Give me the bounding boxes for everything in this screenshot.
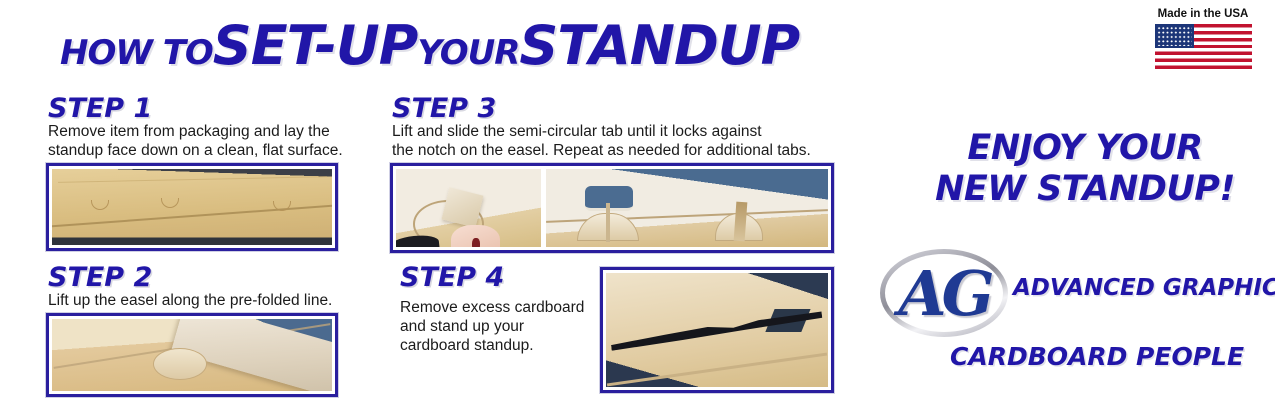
hand	[451, 225, 500, 247]
step-2-photo	[46, 313, 338, 397]
advanced-graphics-logo-icon: AG	[880, 249, 1008, 337]
instruction-sheet: HOW TOSET-UPYOURSTANDUP Made in the USA …	[0, 0, 1275, 417]
step-3-heading: STEP 3	[392, 93, 496, 124]
step-3-body: Lift and slide the semi-circular tab unt…	[392, 122, 832, 160]
step-1-body: Remove item from packaging and lay the s…	[48, 122, 358, 160]
cardboard-edge	[607, 353, 827, 387]
title-part-set-up: SET-UP	[213, 14, 418, 77]
usa-flag-icon	[1155, 24, 1252, 69]
made-in-usa-label: Made in the USA	[1147, 8, 1259, 20]
step-3-photo	[390, 163, 834, 253]
page-title: HOW TOSET-UPYOURSTANDUP	[60, 14, 799, 77]
photo-standup-face-down	[52, 169, 332, 245]
company-tagline: CARDBOARD PEOPLE	[950, 342, 1244, 371]
flag-canton	[1155, 24, 1194, 48]
logo-monogram: AG	[880, 249, 1008, 337]
step-2-heading: STEP 2	[48, 262, 152, 293]
step-4-body: Remove excess cardboard and stand up you…	[400, 298, 610, 355]
photo-tabs-locked	[546, 169, 828, 247]
made-in-usa-badge: Made in the USA	[1147, 8, 1259, 69]
step-4-photo	[600, 267, 834, 393]
photo-excess-cardboard	[606, 273, 828, 387]
closing-message: ENJOY YOUR NEW STANDUP!	[905, 128, 1265, 210]
title-part-your: YOUR	[417, 33, 519, 73]
tab-nub	[91, 200, 109, 210]
tab-nub	[161, 198, 179, 208]
photo-lifting-tab	[396, 169, 541, 247]
step-1-photo	[46, 163, 338, 251]
title-part-standup: STANDUP	[519, 14, 799, 77]
step-4-heading: STEP 4	[400, 262, 504, 293]
step-2-body: Lift up the easel along the pre-folded l…	[48, 291, 358, 310]
company-name: ADVANCED GRAPHICS	[1013, 275, 1275, 301]
flag-stars	[1157, 26, 1192, 46]
semi-circular-tab	[153, 348, 207, 380]
title-part-how-to: HOW TO	[60, 33, 213, 73]
photo-easel-lifted	[52, 319, 332, 391]
step-1-heading: STEP 1	[48, 93, 152, 124]
tab-nub	[273, 201, 291, 211]
locked-tab	[715, 213, 763, 241]
